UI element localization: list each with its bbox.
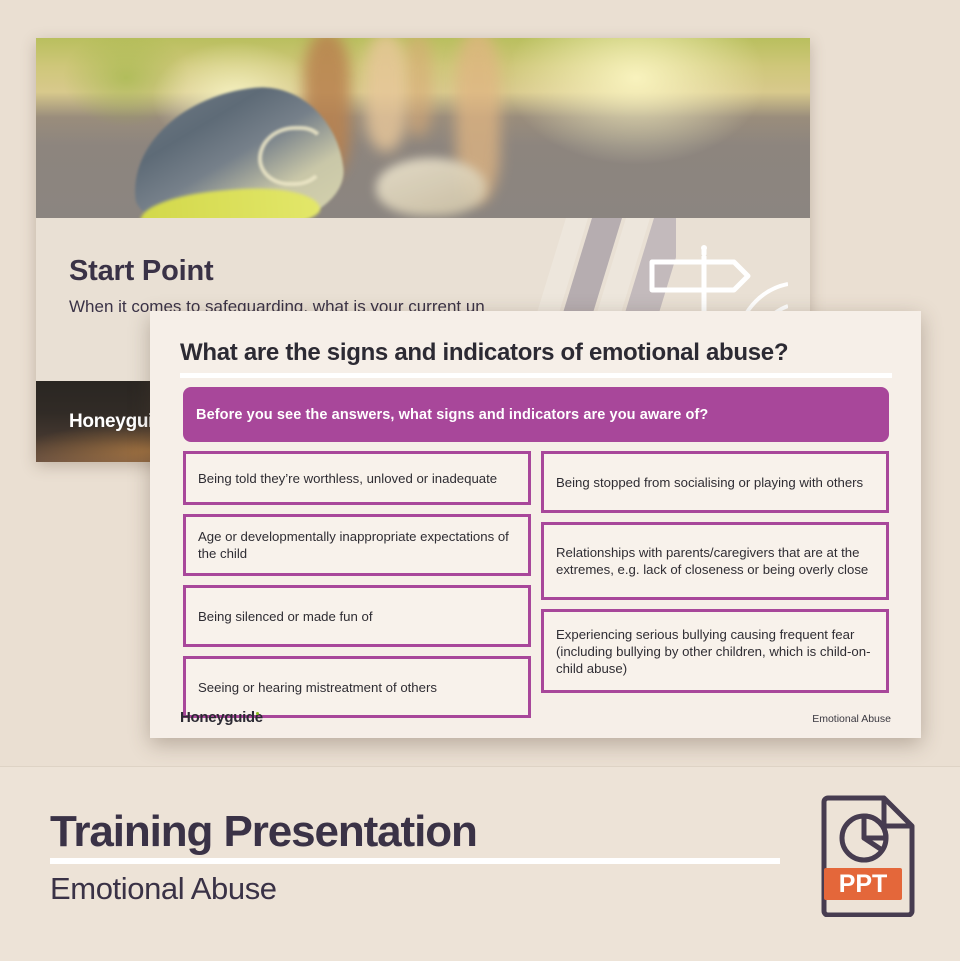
front-slide-title: What are the signs and indicators of emo… (180, 339, 892, 367)
photo-shoe-far (376, 158, 486, 216)
prompt-banner: Before you see the answers, what signs a… (183, 387, 889, 442)
front-slide-footer-topic: Emotional Abuse (812, 713, 891, 725)
answer-card[interactable]: Being silenced or made fun of (183, 585, 531, 647)
photo-shoe-lace (258, 126, 326, 186)
ppt-badge-label: PPT (839, 870, 888, 898)
banner-subtitle: Emotional Abuse (50, 871, 277, 907)
answer-column-right: Being stopped from socialising or playin… (541, 451, 889, 702)
back-slide-title: Start Point (69, 255, 213, 288)
prompt-text: Before you see the answers, what signs a… (183, 407, 708, 423)
page-root: Start Point When it comes to safeguardin… (0, 0, 960, 960)
logo-dot-icon (256, 712, 259, 715)
answer-card[interactable]: Being told they’re worthless, unloved or… (183, 451, 531, 505)
front-slide-card[interactable]: What are the signs and indicators of emo… (150, 311, 921, 738)
back-slide-hero-photo (36, 38, 810, 218)
photo-blur-shape (366, 38, 406, 152)
photo-blur-shape (404, 38, 432, 137)
answer-card[interactable]: Being stopped from socialising or playin… (541, 451, 889, 513)
answer-card[interactable]: Age or developmentally inappropriate exp… (183, 514, 531, 576)
answer-column-left: Being told they’re worthless, unloved or… (183, 451, 531, 727)
banner-title: Training Presentation (50, 807, 477, 857)
title-underline (180, 373, 892, 378)
bottom-banner: Training Presentation Emotional Abuse (0, 766, 960, 961)
answer-card[interactable]: Experiencing serious bullying causing fr… (541, 609, 889, 693)
powerpoint-file-icon: PPT (820, 792, 920, 917)
front-slide-logo-text: Honeyguide (180, 709, 263, 726)
front-slide-footer-logo: Honeyguide (180, 709, 270, 726)
answer-card[interactable]: Relationships with parents/caregivers th… (541, 522, 889, 600)
banner-underline (50, 858, 780, 864)
